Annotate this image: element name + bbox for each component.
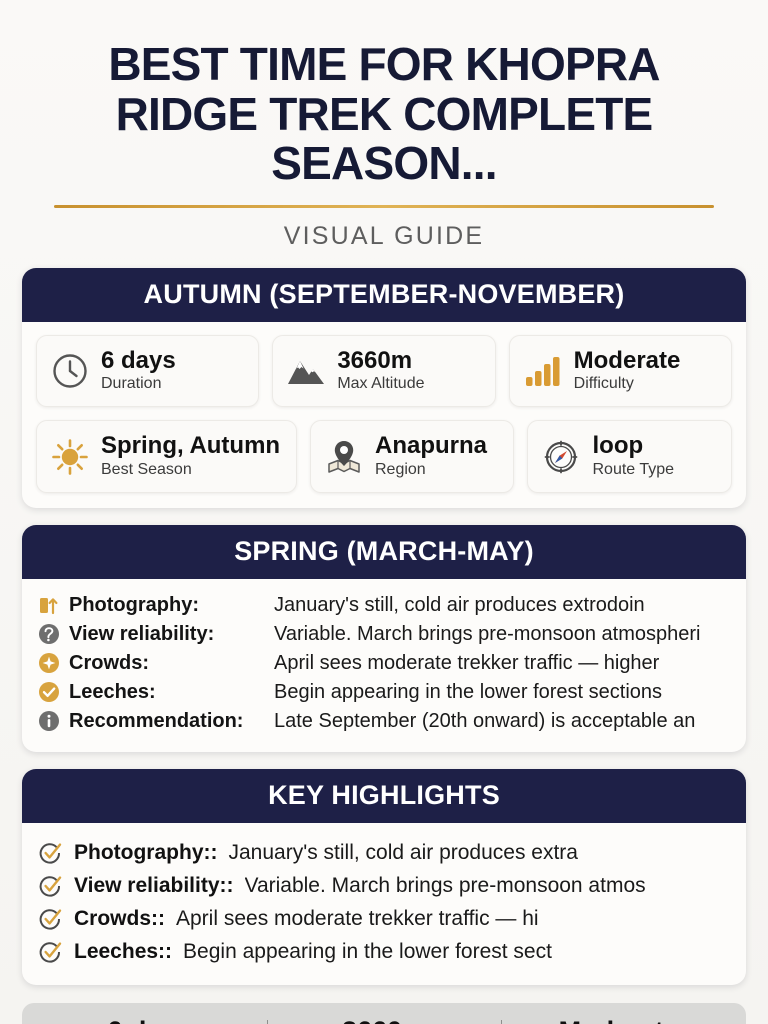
- highlight-value: Begin appearing in the lower forest sect: [183, 940, 552, 964]
- detail-row: Photography: January's still, cold air p…: [38, 591, 730, 620]
- compass-icon: [541, 437, 581, 477]
- highlights-list: Photography:: January's still, cold air …: [22, 823, 746, 985]
- sun-icon: [50, 437, 90, 477]
- stat-difficulty: Moderate Difficulty: [509, 335, 732, 407]
- highlight-row: Photography:: January's still, cold air …: [38, 837, 730, 870]
- info-gray-icon: [38, 710, 60, 732]
- stat-label: Duration: [101, 374, 176, 394]
- infographic-page: BEST TIME FOR KHOPRA RIDGE TREK COMPLETE…: [0, 0, 768, 1024]
- detail-row: View reliability: Variable. March brings…: [38, 620, 730, 649]
- detail-value: Late September (20th onward) is acceptab…: [274, 710, 695, 733]
- detail-value: Variable. March brings pre-monsoon atmos…: [274, 623, 701, 646]
- detail-value: January's still, cold air produces extro…: [274, 594, 645, 617]
- highlights-heading: KEY HIGHLIGHTS: [22, 769, 746, 823]
- stat-label: Best Season: [101, 460, 280, 480]
- stat-value: Anapurna: [375, 432, 487, 459]
- stat-text: loop Route Type: [592, 433, 674, 479]
- page-subtitle: VISUAL GUIDE: [22, 222, 746, 251]
- detail-value: April sees moderate trekker traffic — hi…: [274, 652, 659, 675]
- map-pin-icon: [324, 437, 364, 477]
- stat-value: 6 days: [101, 347, 176, 374]
- footer-value: Moderate: [501, 1016, 736, 1024]
- spring-heading: SPRING (MARCH-MAY): [22, 525, 746, 579]
- check-gold-icon: [38, 681, 60, 703]
- stat-duration: 6 days Duration: [36, 335, 259, 407]
- autumn-card: AUTUMN (SEPTEMBER-NOVEMBER) 6 days Durat…: [22, 268, 746, 508]
- highlight-label: Leeches::: [74, 940, 172, 964]
- bar-chart-icon: [523, 351, 563, 391]
- stat-text: 6 days Duration: [101, 348, 176, 394]
- check-circle-icon: [38, 940, 63, 965]
- detail-row: Crowds: April sees moderate trekker traf…: [38, 649, 730, 678]
- highlight-row: Leeches:: Begin appearing in the lower f…: [38, 936, 730, 969]
- detail-row: Recommendation: Late September (20th onw…: [38, 707, 730, 736]
- eye-gray-icon: [38, 623, 60, 645]
- stat-label: Difficulty: [574, 374, 681, 394]
- header: BEST TIME FOR KHOPRA RIDGE TREK COMPLETE…: [22, 0, 746, 251]
- highlight-value: April sees moderate trekker traffic — hi: [176, 907, 539, 931]
- title-divider: [54, 205, 714, 208]
- stat-best-season: Spring, Autumn Best Season: [36, 420, 297, 492]
- highlight-row: View reliability:: Variable. March bring…: [38, 870, 730, 903]
- check-circle-icon: [38, 874, 63, 899]
- stat-region: Anapurna Region: [310, 420, 515, 492]
- footer-item-duration: 6 days Duration: [32, 1016, 267, 1024]
- stat-text: Anapurna Region: [375, 433, 487, 479]
- detail-label: View reliability:: [69, 623, 265, 646]
- check-circle-icon: [38, 841, 63, 866]
- footer-summary-bar: 6 days Duration 3660m Altitude Moderate …: [22, 1003, 746, 1024]
- stat-value: Moderate: [574, 347, 681, 374]
- detail-label: Leeches:: [69, 681, 265, 704]
- detail-label: Recommendation:: [69, 710, 265, 733]
- stat-value: Spring, Autumn: [101, 432, 280, 459]
- highlight-label: Photography::: [74, 841, 217, 865]
- stat-text: 3660m Max Altitude: [337, 348, 424, 394]
- stat-label: Region: [375, 460, 487, 480]
- spring-detail-list: Photography: January's still, cold air p…: [22, 579, 746, 752]
- detail-label: Photography:: [69, 594, 265, 617]
- check-circle-icon: [38, 907, 63, 932]
- detail-label: Crowds:: [69, 652, 265, 675]
- autumn-stats-grid: 6 days Duration 3660m Max Alti: [22, 322, 746, 508]
- camera-gold-icon: [38, 594, 60, 616]
- stat-max-altitude: 3660m Max Altitude: [272, 335, 495, 407]
- clock-icon: [50, 351, 90, 391]
- stat-label: Route Type: [592, 460, 674, 480]
- detail-value: Begin appearing in the lower forest sect…: [274, 681, 662, 704]
- stat-value: 3660m: [337, 347, 412, 374]
- stat-value: loop: [592, 432, 643, 459]
- sparkle-gold-icon: [38, 652, 60, 674]
- highlight-row: Crowds:: April sees moderate trekker tra…: [38, 903, 730, 936]
- spring-card: SPRING (MARCH-MAY) Photography: January'…: [22, 525, 746, 752]
- footer-item-difficulty: Moderate Difficulty: [501, 1016, 736, 1024]
- page-title: BEST TIME FOR KHOPRA RIDGE TREK COMPLETE…: [22, 40, 746, 189]
- footer-item-altitude: 3660m Altitude: [267, 1016, 502, 1024]
- highlight-value: Variable. March brings pre-monsoon atmos: [245, 874, 646, 898]
- stat-route-type: loop Route Type: [527, 420, 732, 492]
- stat-row-2: Spring, Autumn Best Season: [36, 420, 732, 492]
- stat-row-1: 6 days Duration 3660m Max Alti: [36, 335, 732, 407]
- mountain-icon: [286, 351, 326, 391]
- stat-text: Moderate Difficulty: [574, 348, 681, 394]
- autumn-heading: AUTUMN (SEPTEMBER-NOVEMBER): [22, 268, 746, 322]
- highlight-value: January's still, cold air produces extra: [228, 841, 578, 865]
- highlight-label: View reliability::: [74, 874, 234, 898]
- footer-value: 3660m: [267, 1016, 502, 1024]
- highlight-label: Crowds::: [74, 907, 165, 931]
- detail-row: Leeches: Begin appearing in the lower fo…: [38, 678, 730, 707]
- highlights-card: KEY HIGHLIGHTS Photography:: January's s…: [22, 769, 746, 985]
- stat-text: Spring, Autumn Best Season: [101, 433, 280, 479]
- footer-value: 6 days: [32, 1016, 267, 1024]
- stat-label: Max Altitude: [337, 374, 424, 394]
